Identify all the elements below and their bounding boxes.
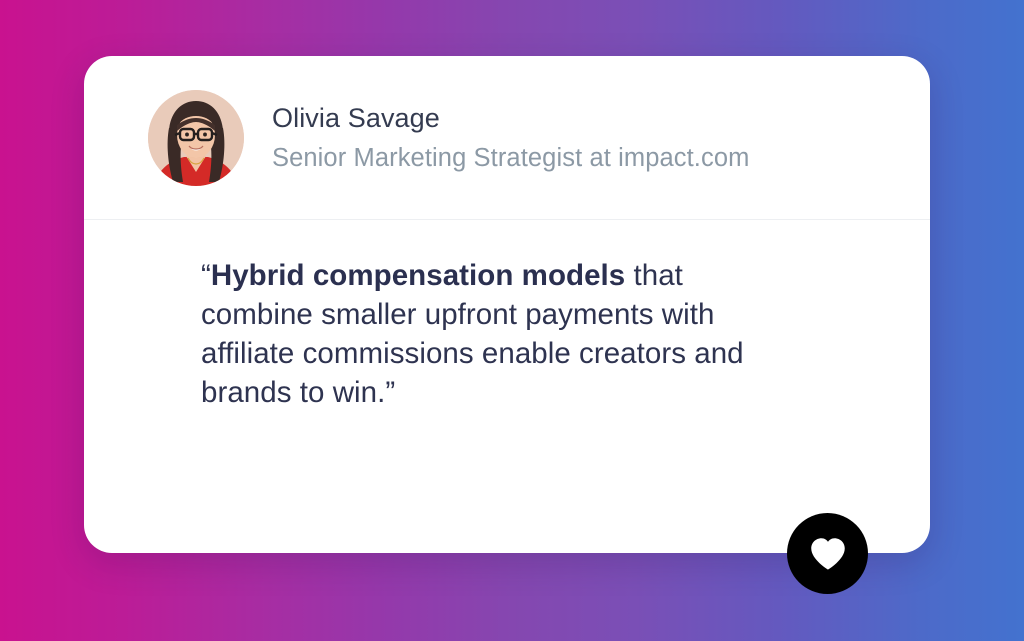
testimonial-card-scene: Olivia Savage Senior Marketing Strategis…	[0, 0, 1024, 641]
quote-lead-bold: Hybrid compensation models	[211, 259, 625, 292]
quote-close-mark: ”	[385, 376, 395, 409]
like-button[interactable]	[787, 513, 868, 594]
heart-icon	[808, 534, 848, 574]
card-header: Olivia Savage Senior Marketing Strategis…	[84, 56, 930, 219]
quote-open-mark: “	[201, 259, 211, 292]
quote-body: “Hybrid compensation models that combine…	[201, 256, 801, 412]
avatar	[148, 90, 244, 186]
person-name: Olivia Savage	[272, 101, 749, 135]
testimonial-card: Olivia Savage Senior Marketing Strategis…	[84, 56, 930, 553]
quote-text: “Hybrid compensation models that combine…	[201, 256, 801, 412]
person-role: Senior Marketing Strategist at impact.co…	[272, 142, 749, 174]
header-divider	[84, 219, 930, 220]
identity-block: Olivia Savage Senior Marketing Strategis…	[272, 101, 749, 174]
